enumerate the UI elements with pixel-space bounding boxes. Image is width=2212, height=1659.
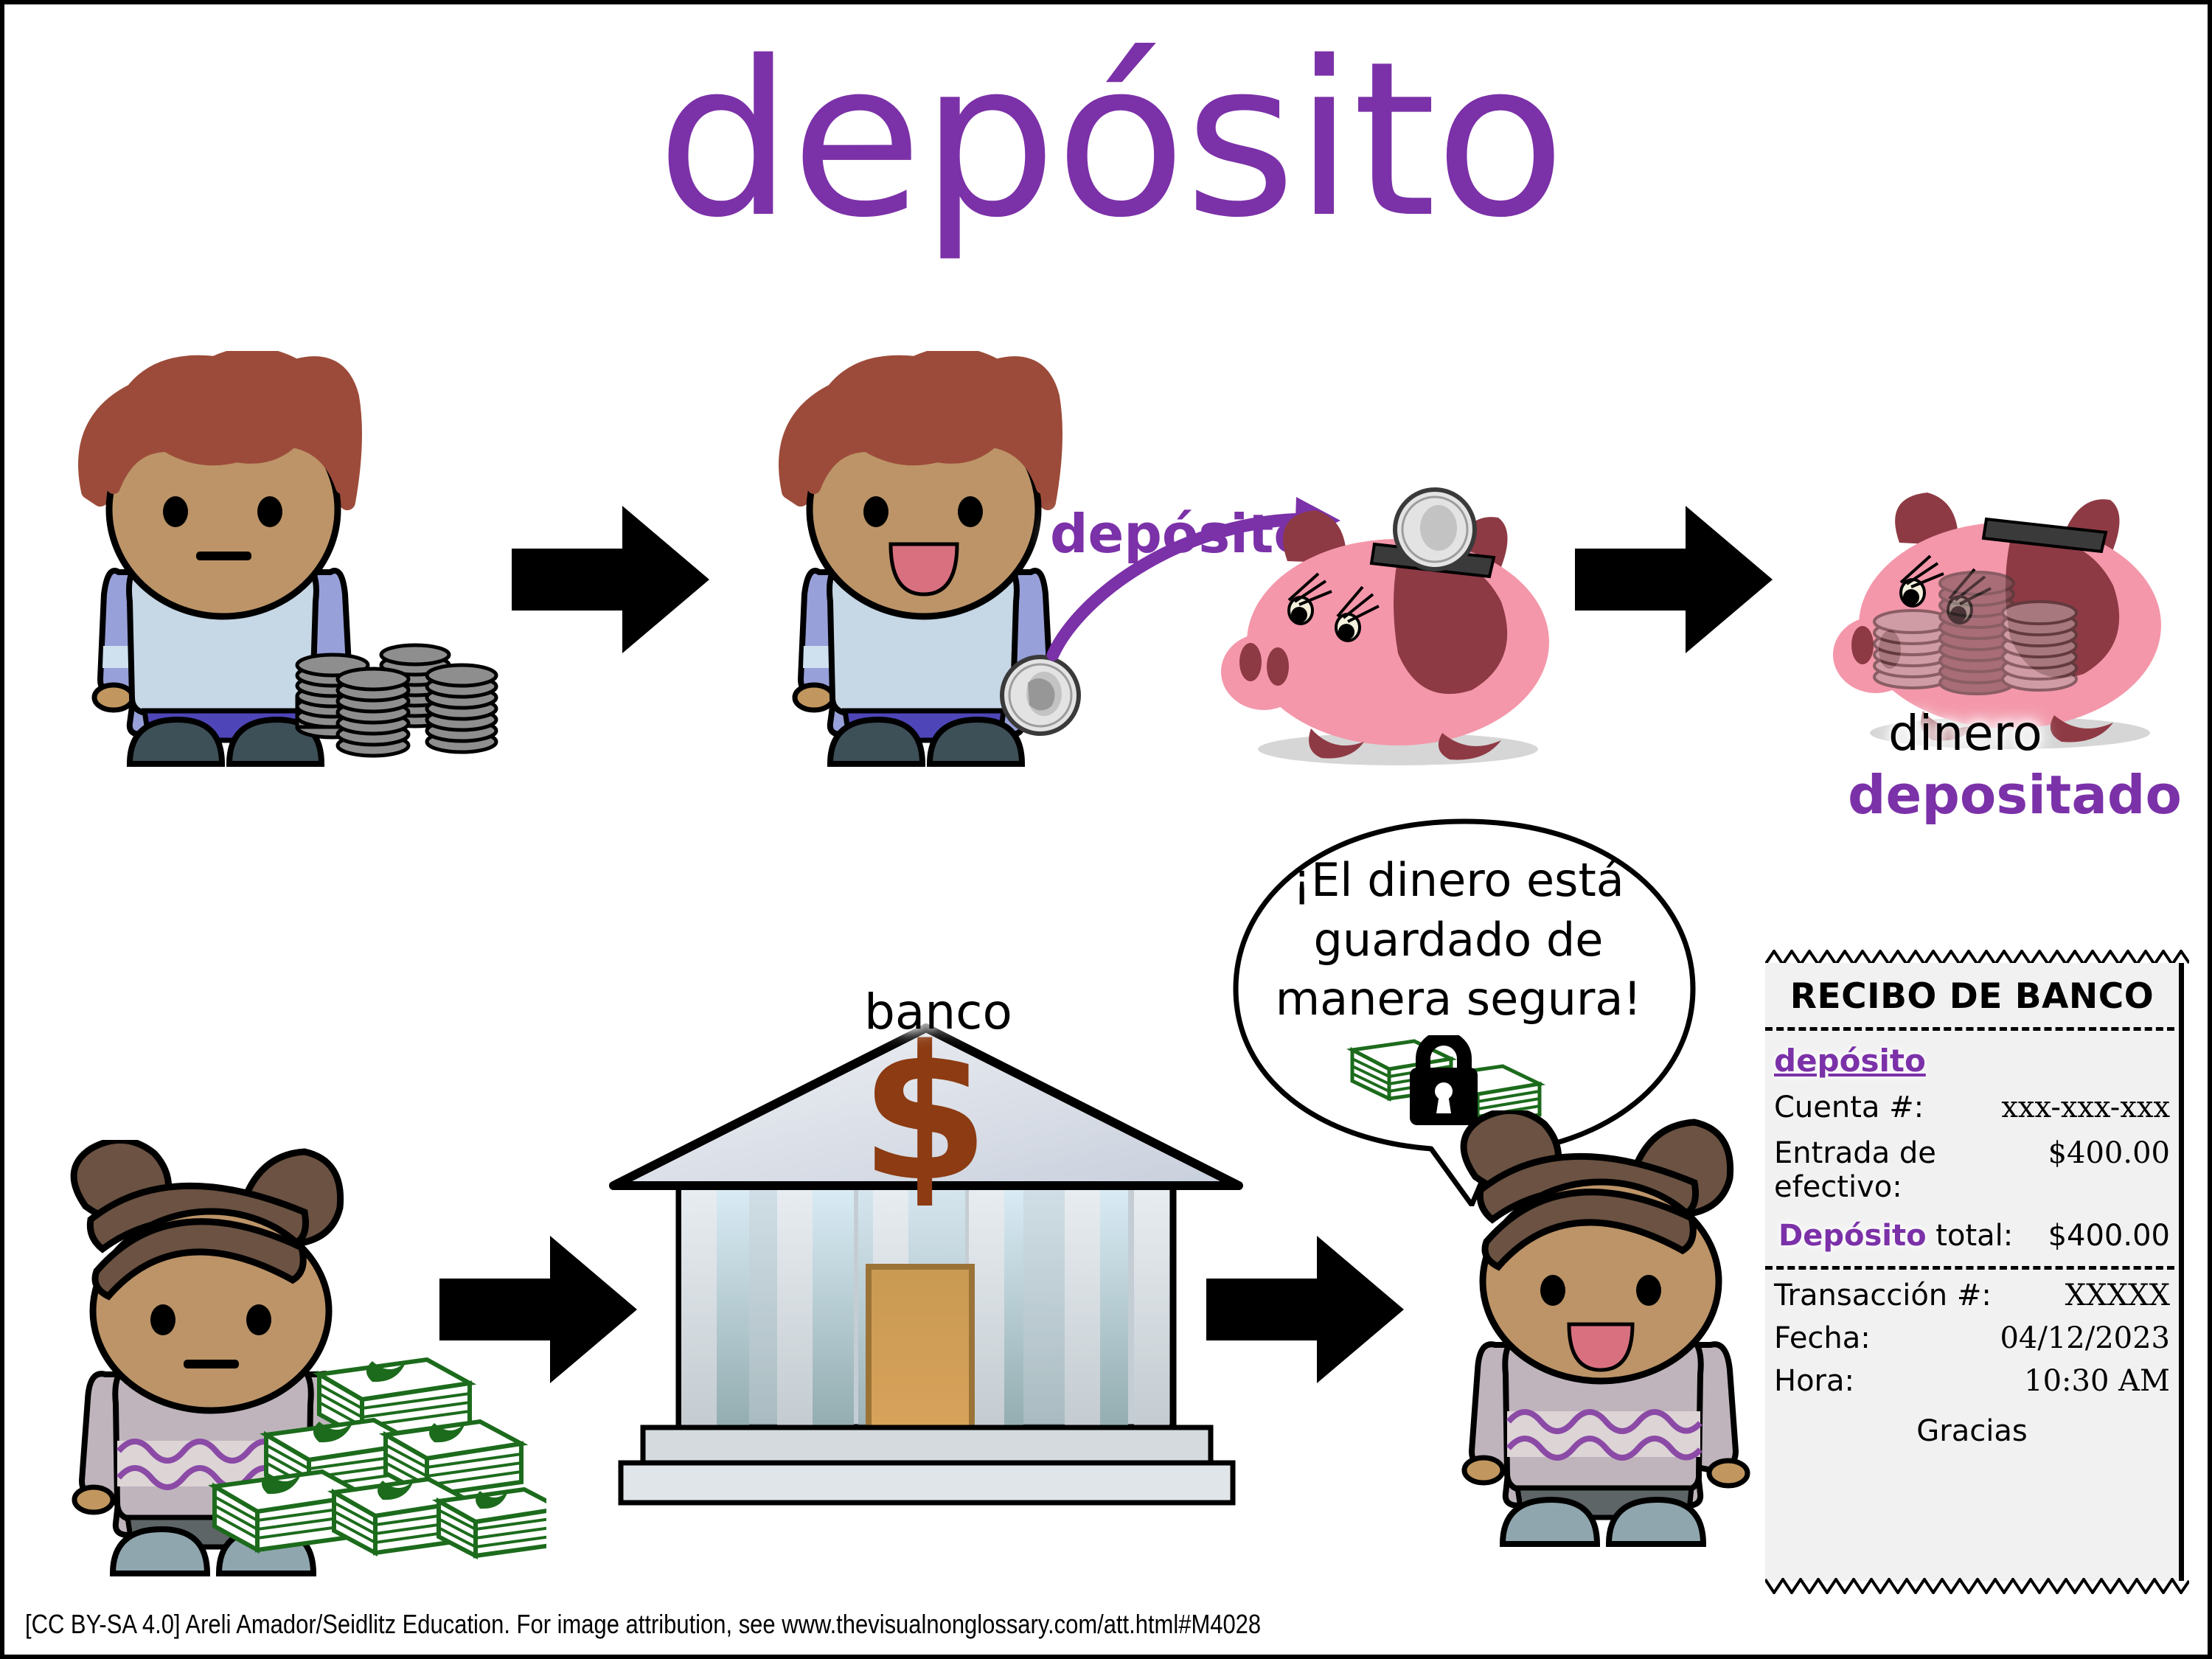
time-label: Hora: [1774, 1364, 1854, 1398]
cash-in-value: $400.00 [2048, 1136, 2170, 1170]
receipt-row-cash-in: Entrada de efectivo: $400.00 [1774, 1136, 2170, 1204]
poster-canvas: depósito [0, 0, 2212, 1659]
receipt-keyword: depósito [1774, 1043, 2179, 1079]
girl-smiling-illustration [1435, 1110, 1774, 1568]
total-value: $400.00 [2048, 1219, 2170, 1253]
dinero-label: dinero [1888, 705, 2042, 762]
bank-receipt: RECIBO DE BANCO depósito Cuenta #: xxx-x… [1765, 963, 2184, 1581]
bank-building-illustration: $ [609, 1022, 1243, 1523]
receipt-row-date: Fecha: 04/12/2023 [1774, 1321, 2170, 1355]
total-keyword: Depósito [1778, 1219, 1927, 1253]
quarter-coin-entering-icon [1395, 490, 1475, 569]
cash-in-label: Entrada de efectivo: [1774, 1136, 1995, 1204]
receipt-divider-2 [1765, 1266, 2174, 1270]
receipt-row-total: Depósito total: $400.00 [1778, 1219, 2170, 1253]
arrow-right-icon-4 [1206, 1236, 1405, 1383]
speech-line-3: manera segura! [1237, 970, 1680, 1029]
account-value: xxx-xxx-xxx [2001, 1091, 2170, 1124]
date-label: Fecha: [1774, 1321, 1871, 1355]
banco-label: banco [864, 984, 1012, 1040]
date-value: 04/12/2023 [2000, 1321, 2170, 1355]
receipt-bottom-edge [1765, 1578, 2189, 1594]
page-title: depósito [4, 34, 2212, 248]
depositado-label: depositado [1848, 764, 2182, 826]
speech-line-1: ¡El dinero está [1237, 851, 1680, 911]
piggy-bank-illustration [1177, 476, 1590, 771]
arrow-right-icon-2 [1575, 506, 1774, 653]
total-label: total: [1935, 1219, 2013, 1253]
transaction-label: Transacción #: [1774, 1279, 1992, 1312]
account-label: Cuenta #: [1774, 1091, 1924, 1124]
boy-with-coins-illustration [49, 351, 535, 779]
attribution-text: [CC BY-SA 4.0] Areli Amador/Seidlitz Edu… [25, 1609, 1261, 1640]
speech-bubble-text: ¡El dinero está guardado de manera segur… [1237, 851, 1680, 1029]
speech-line-2: guardado de [1237, 911, 1680, 970]
dollar-sign-icon: $ [860, 1022, 989, 1222]
arrow-right-icon-1 [512, 506, 711, 653]
receipt-row-transaction: Transacción #: XXXXX [1774, 1279, 2170, 1312]
time-value: 10:30 AM [2024, 1364, 2170, 1398]
receipt-thanks: Gracias [1765, 1414, 2179, 1448]
receipt-row-account: Cuenta #: xxx-xxx-xxx [1774, 1091, 2170, 1124]
receipt-title: RECIBO DE BANCO [1765, 963, 2179, 1017]
transaction-value: XXXXX [2065, 1279, 2170, 1312]
receipt-row-time: Hora: 10:30 AM [1774, 1364, 2170, 1398]
receipt-divider-1 [1765, 1027, 2174, 1031]
